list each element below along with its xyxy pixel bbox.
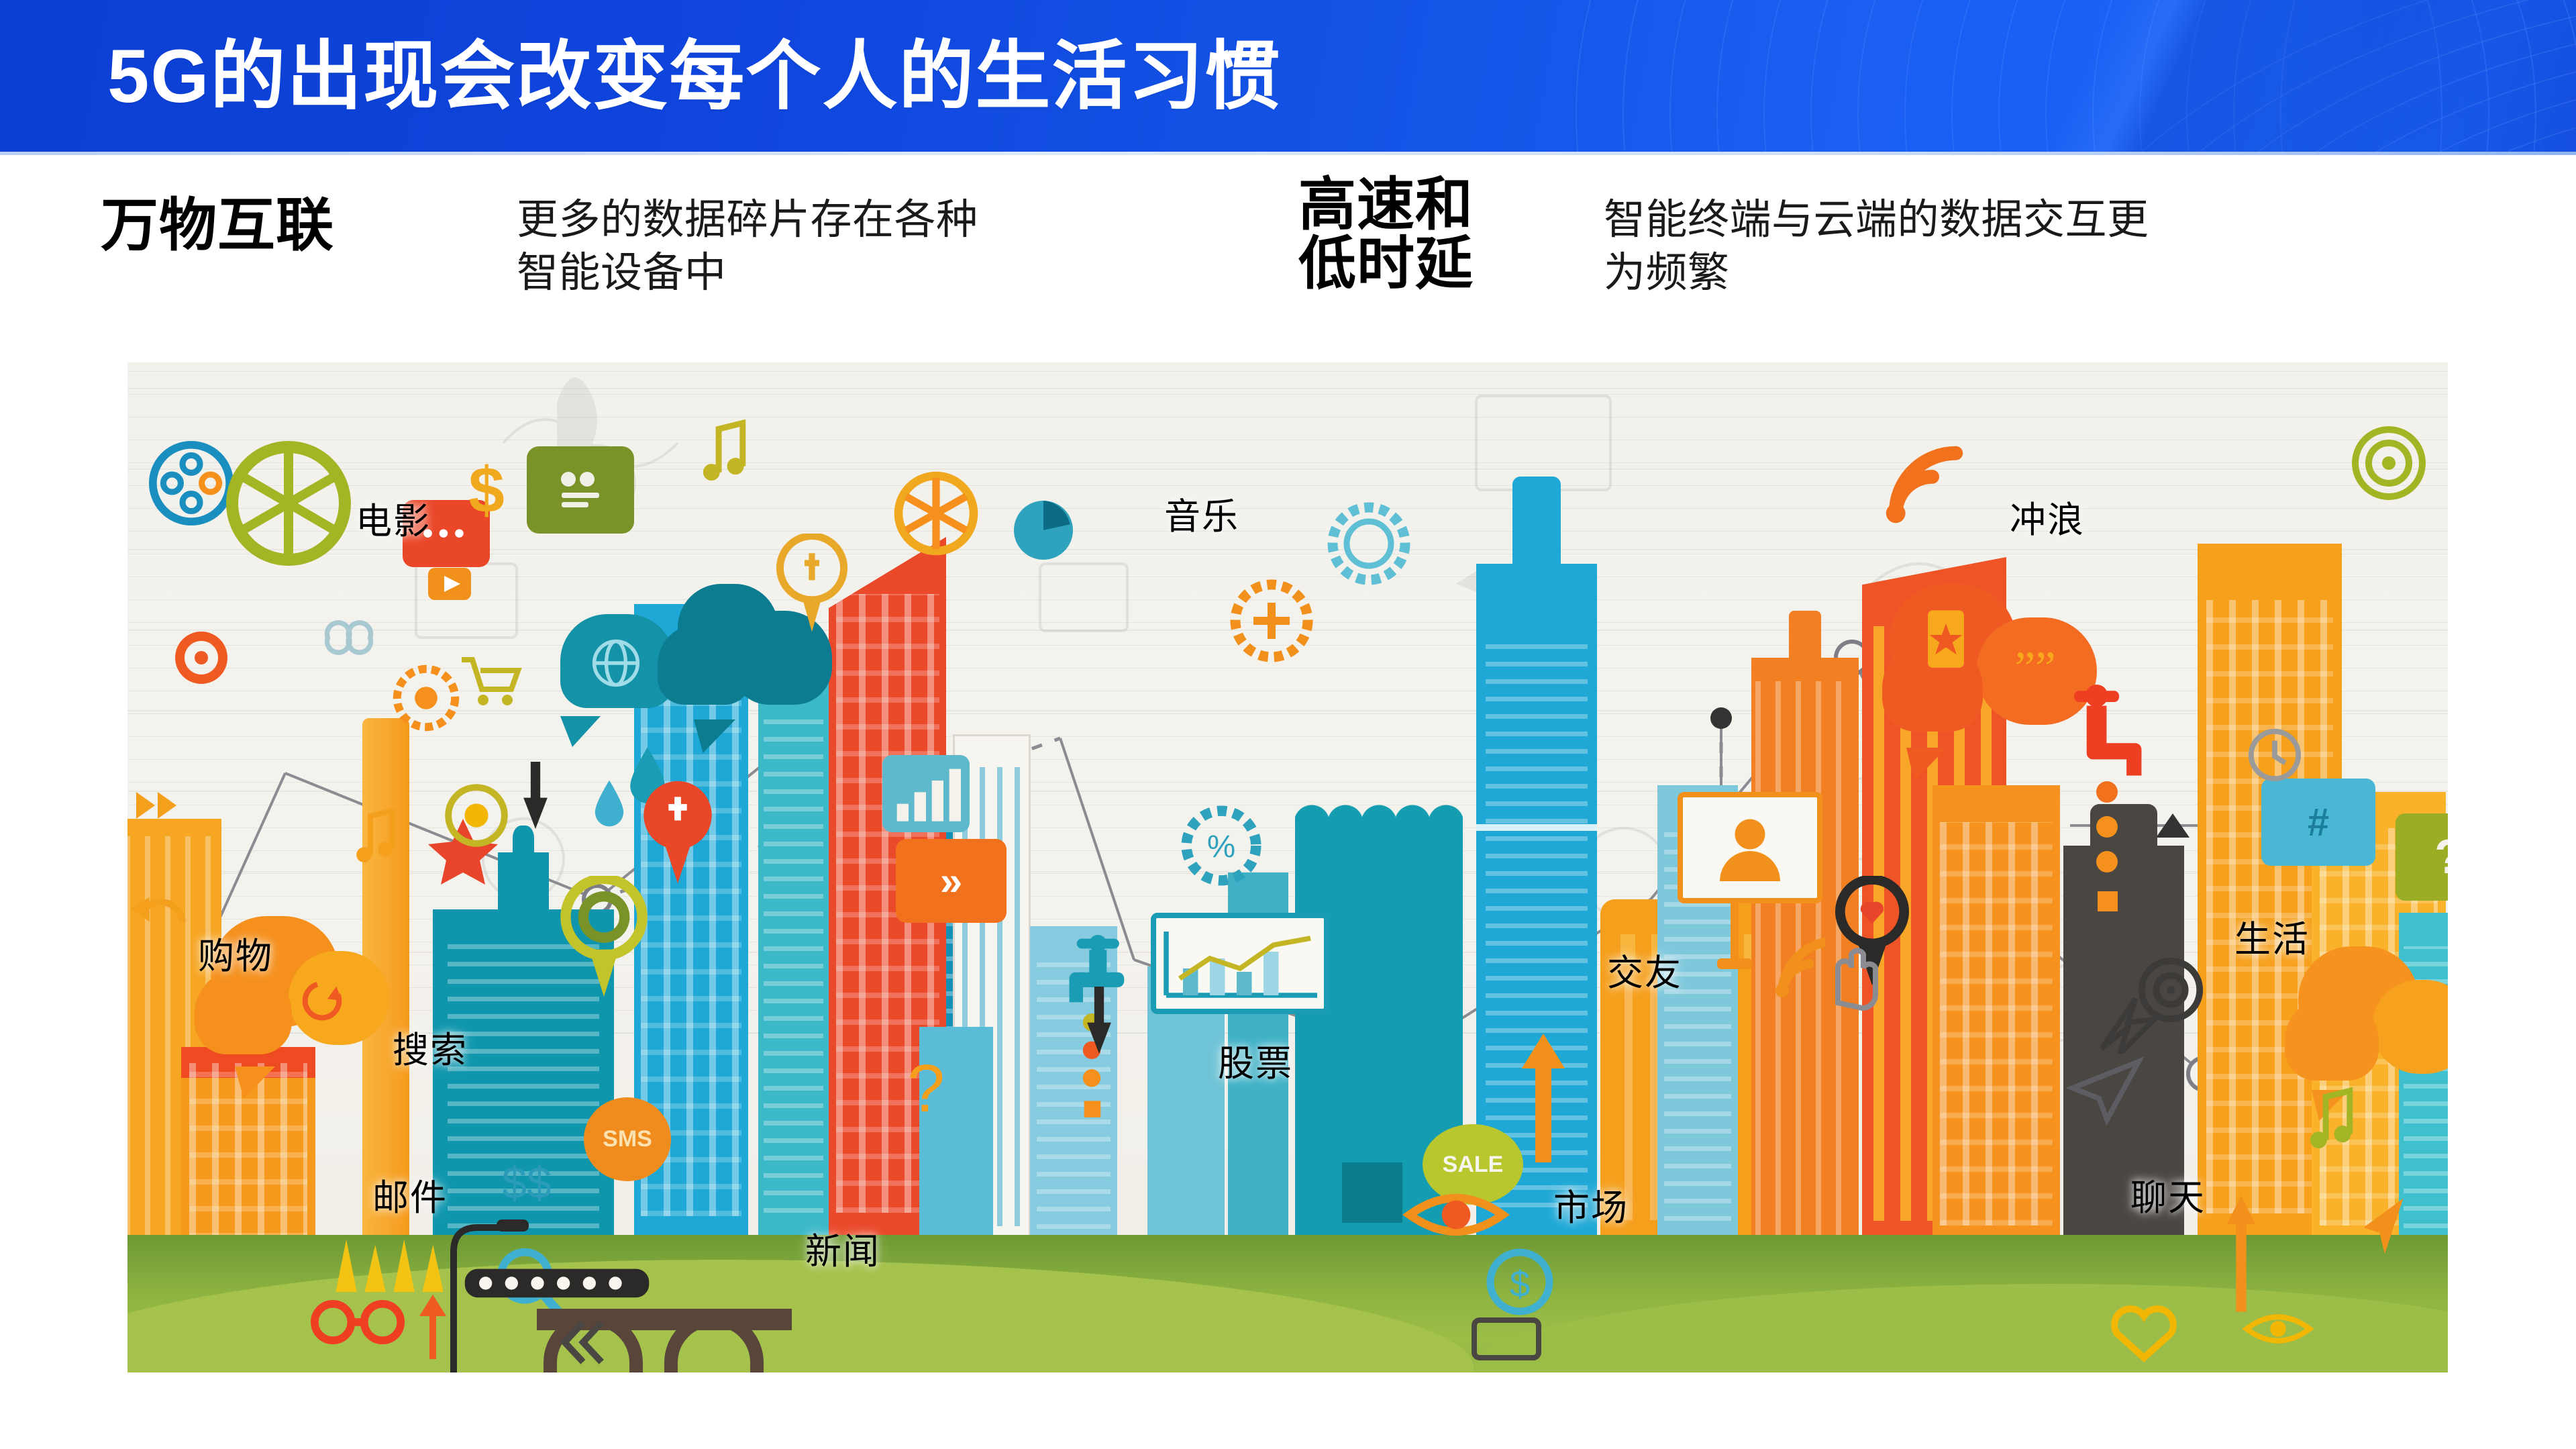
point-2-body: 智能终端与云端的数据交互更 为频繁 [1604, 193, 2395, 300]
map-label-life: 生活 [2234, 909, 2310, 962]
target-bullseye-icon [2349, 423, 2429, 503]
upload-arrow-icon [1516, 1034, 1570, 1168]
map-label-stocks: 股票 [1218, 1034, 1293, 1087]
lightbulb-pin-icon [775, 534, 849, 634]
map-label-market: 市场 [1553, 1178, 1629, 1231]
gear-lightblue-icon [1319, 493, 1419, 594]
smart-city-iot-illustration: ••• $ [127, 362, 2448, 1372]
svg-text:””: ”” [2014, 642, 2055, 693]
plant-sprout-orange-icon [409, 1292, 456, 1359]
music-note-green-icon [2302, 1087, 2362, 1154]
svg-text:$: $ [468, 455, 505, 526]
up-arrow-slim-icon [2224, 1195, 2258, 1315]
map-label-music: 音乐 [1164, 487, 1239, 540]
faucet-tap-red-icon [2067, 678, 2154, 779]
play-arrows-icon [131, 779, 185, 832]
paper-plane-icon [2067, 1054, 2147, 1128]
sale-badge-label: SALE [1443, 1152, 1504, 1178]
eye-grass-icon [2241, 1302, 2315, 1356]
point-1-lead: 万物互联 [101, 195, 334, 257]
down-arrow-icon [1087, 987, 1111, 1054]
stock-chart-screen-icon [1151, 913, 1329, 1014]
map-label-movie: 电影 [356, 491, 431, 544]
antenna-stand-icon [1714, 899, 1755, 980]
forward-chevrons-bubble-icon: » [896, 839, 1007, 923]
heart-outline-grass-icon [2100, 1299, 2187, 1366]
wifi-signal-icon [1872, 430, 1979, 537]
gear-orange-plus-icon [1221, 570, 1322, 671]
header-wave-pattern-icon [1569, 0, 2576, 153]
dripping-dots-icon [2094, 779, 2120, 913]
svg-text:%: % [1207, 829, 1235, 864]
svg-text:$: $ [1510, 1263, 1531, 1305]
header-diagonal-shade [1737, 0, 2576, 153]
music-note-olive-icon [694, 419, 755, 487]
sun-wheel-orange-icon [889, 466, 983, 560]
point-2-lead: 高速和 低时延 [1298, 176, 1474, 293]
map-label-shopping: 购物 [198, 926, 273, 979]
target-ring-olive-icon [440, 779, 513, 852]
water-drop-small-icon [590, 779, 628, 828]
dollar-circle-icon: $ [1483, 1245, 1557, 1319]
map-label-search: 搜索 [393, 1020, 468, 1073]
quote-icon: ”” [2006, 639, 2064, 697]
map-label-friends: 交友 [1607, 943, 1682, 996]
chevron-left-grass-icon [544, 1312, 617, 1372]
question-bubble-icon: ? [2395, 813, 2448, 901]
glasses-icon [305, 1299, 413, 1346]
hashtag-bubble-icon: # [2261, 779, 2375, 866]
speech-bubble-olive-media-icon [527, 446, 634, 534]
wheel-spoke-icon [221, 436, 356, 570]
gear-blue-percent-icon: % [1174, 799, 1268, 893]
wifi-small-orange-icon [1771, 926, 1825, 1007]
down-arrow-dark-icon [523, 762, 548, 829]
clock-icon [2245, 725, 2305, 785]
cloud-orange-far-right-icon [2285, 946, 2448, 1094]
video-camera-icon [547, 456, 614, 523]
map-label-news: 新闻 [805, 1221, 880, 1275]
badge-star-icon [1919, 605, 1973, 679]
eye-view-icon [1402, 1178, 1510, 1252]
question-mark-orange-icon: ? [903, 1050, 949, 1124]
music-note-orange-icon [349, 805, 403, 870]
infinity-icon [305, 614, 393, 661]
sms-badge-label: SMS [603, 1126, 652, 1152]
pie-chart-icon [1007, 493, 1080, 567]
slide-title: 5G的出现会改变每个人的生活习惯 [107, 15, 1281, 138]
map-label-chat: 聊天 [2130, 1168, 2206, 1221]
svg-text:?: ? [907, 1051, 945, 1124]
sms-badge: SMS [584, 1097, 671, 1181]
bookmark-grass-icon [1463, 1312, 1550, 1366]
map-label-email: 邮件 [372, 1168, 448, 1221]
right-arrow-tile-icon [423, 557, 476, 611]
lightning-bolt-icon [2090, 993, 2171, 1054]
point-1-body: 更多的数据碎片存在各种 智能设备中 [517, 193, 1268, 300]
location-pin-olive-icon [557, 876, 651, 997]
building-teal-slim-1 [758, 658, 829, 1248]
slide-header-bar: 5G的出现会改变每个人的生活习惯 [0, 0, 2576, 153]
header-underline-divider [0, 152, 2576, 155]
location-dot-red-icon [168, 624, 235, 691]
building-orange-mid-right [1933, 785, 2060, 1248]
header-wave-pattern-secondary-icon [1717, 0, 2576, 153]
globe-icon [586, 633, 646, 693]
dollar-sign-icon: $ [456, 455, 517, 529]
bar-chart-tile-icon [882, 755, 970, 832]
grass-spikes-icon [329, 1232, 490, 1292]
reply-arrow-icon [127, 886, 188, 933]
rotate-refresh-icon [295, 974, 349, 1028]
map-label-surf: 冲浪 [2010, 490, 2085, 543]
gear-small-orange-icon [386, 658, 466, 738]
send-arrow-icon [2355, 1188, 2409, 1262]
monitor-user-icon [1678, 792, 1822, 903]
lightbulb-pin-red-icon [637, 779, 718, 886]
shopping-cart-icon [456, 651, 523, 711]
